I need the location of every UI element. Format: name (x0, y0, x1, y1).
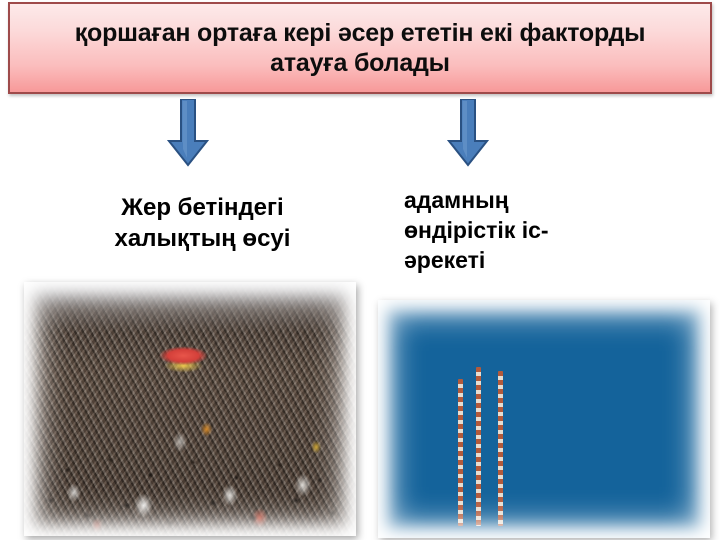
down-arrow-icon-left (167, 99, 209, 167)
page-title: қоршаған ортаға кері әсер ететін екі фак… (57, 18, 664, 79)
down-arrow-icon-right (447, 99, 489, 167)
slide-canvas: қоршаған ортаға кері әсер ететін екі фак… (0, 0, 720, 540)
image-crowd-content (24, 282, 356, 536)
chimney-icon-a (458, 379, 463, 527)
chimney-icon-c (498, 371, 503, 526)
title-banner: қоршаған ортаға кері әсер ететін екі фак… (8, 2, 712, 94)
image-power-plant (378, 300, 710, 538)
caption-industrial-activity: адамның өндірістік іс- әрекеті (404, 186, 704, 276)
chimney-icon-b (476, 367, 481, 526)
image-power-plant-content (378, 300, 710, 538)
caption-population-growth: Жер бетіндегі халықтың өсуі (60, 192, 345, 254)
image-crowd (24, 282, 356, 536)
